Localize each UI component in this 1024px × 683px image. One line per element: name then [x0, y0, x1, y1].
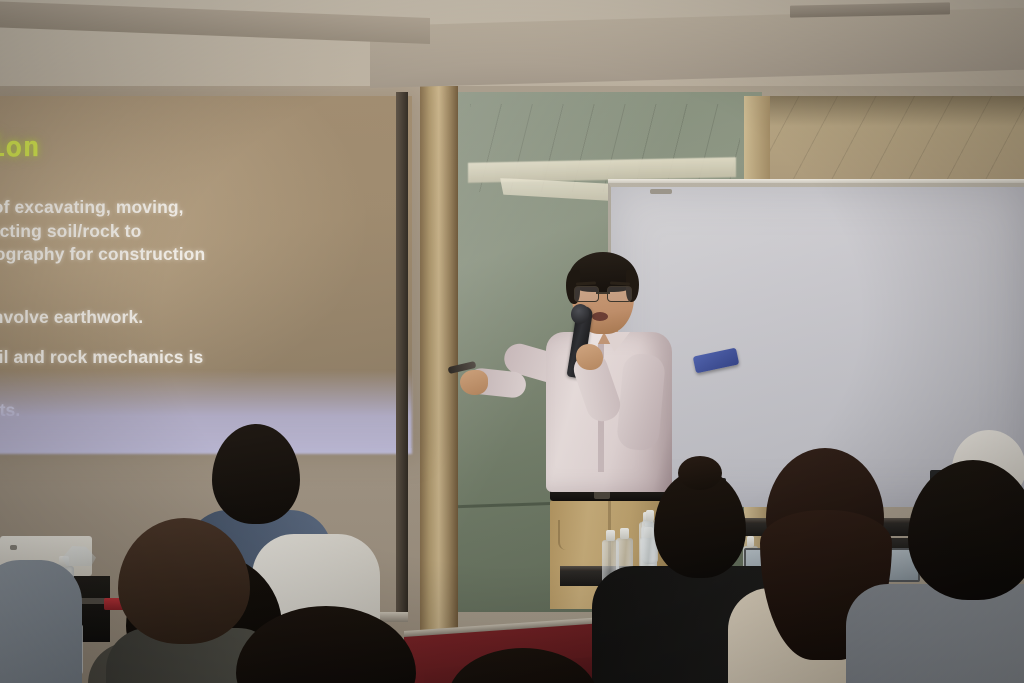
slide-line-5: oments involve earthwork. [0, 306, 412, 330]
audience-head [236, 606, 416, 683]
presenter-right-hand [460, 370, 488, 395]
audience-head [118, 518, 250, 644]
audience-torso [0, 560, 82, 683]
hair-bun [678, 456, 722, 490]
presenter-mouth [592, 312, 608, 321]
slide-heading: uction [0, 130, 40, 163]
screen-frame [396, 92, 408, 622]
slide-line-6: ng the soil and rock mechanics is [0, 346, 412, 370]
slide-line-4: oses. [0, 267, 412, 291]
glasses-bridge [596, 292, 610, 294]
audience-head [908, 460, 1024, 600]
wooden-pillar [418, 74, 458, 634]
panelled-wall-shadow [760, 96, 1024, 126]
trouser-pocket [558, 520, 586, 550]
audience-member [236, 606, 416, 683]
audience-torso [846, 584, 1024, 683]
slide-line-2: or compacting soil/rock to [0, 220, 412, 244]
presenter-left-hand [576, 344, 603, 370]
lecture-hall-photo: uction process of excavating, moving, or… [0, 0, 1024, 683]
whiteboard-clip [650, 189, 672, 194]
bottle-cap [606, 530, 614, 541]
presenter-left-upper-arm [616, 352, 666, 451]
audience-member [0, 540, 74, 683]
slide-line-1: process of excavating, moving, [0, 196, 412, 220]
slide-line-3: sired topography for construction [0, 243, 412, 267]
audience-member [448, 648, 598, 683]
audience-member [880, 460, 1024, 683]
audience-head [448, 648, 598, 683]
